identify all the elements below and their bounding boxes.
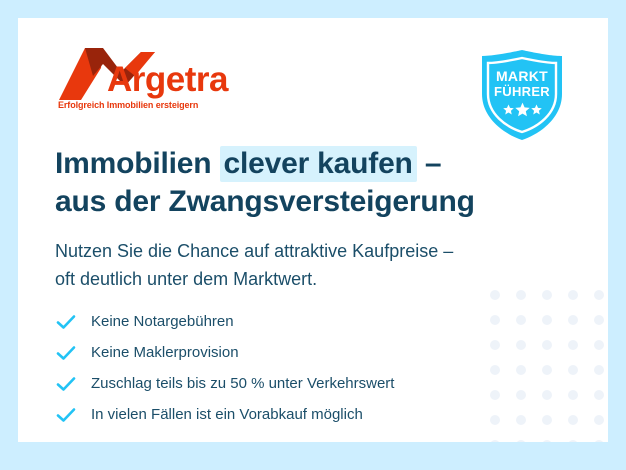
list-item-label: Keine Notargebühren [91, 312, 234, 332]
check-icon [55, 373, 77, 395]
headline-line-2: aus der Zwangsversteigerung [55, 185, 475, 218]
list-item-label: Keine Maklerprovision [91, 343, 239, 363]
dot [568, 340, 578, 350]
dot [542, 415, 552, 425]
dot [516, 415, 526, 425]
list-item: Keine Notargebühren [55, 306, 485, 337]
dot [490, 340, 500, 350]
dot [594, 340, 604, 350]
dot [516, 365, 526, 375]
dot [568, 290, 578, 300]
dot [594, 390, 604, 400]
dot [594, 440, 604, 443]
dot [594, 365, 604, 375]
check-icon [55, 342, 77, 364]
dot [542, 340, 552, 350]
shield-badge-icon [478, 48, 566, 142]
check-icon [55, 311, 77, 333]
dot [516, 390, 526, 400]
dot [516, 315, 526, 325]
dot [542, 290, 552, 300]
headline-highlight: clever kaufen [220, 146, 417, 182]
dot [542, 365, 552, 375]
argetra-logo[interactable]: Argetra Erfolgreich Immobilien ersteiger… [55, 46, 255, 124]
content-card: Argetra Erfolgreich Immobilien ersteiger… [18, 18, 608, 442]
dot [568, 390, 578, 400]
list-item: Zuschlag teils bis zu 50 % unter Verkehr… [55, 368, 485, 399]
list-item: In vielen Fällen ist ein Vorabkauf mögli… [55, 399, 485, 430]
dot [490, 415, 500, 425]
subheading: Nutzen Sie die Chance auf attraktive Kau… [55, 237, 525, 293]
dot [542, 315, 552, 325]
subheading-line-1: Nutzen Sie die Chance auf attraktive Kau… [55, 241, 453, 261]
dot [490, 440, 500, 443]
benefits-checklist: Keine Notargebühren Keine Maklerprovisio… [55, 306, 485, 430]
dot [594, 290, 604, 300]
dot [568, 315, 578, 325]
list-item-label: In vielen Fällen ist ein Vorabkauf mögli… [91, 405, 363, 425]
dot [490, 315, 500, 325]
dot [568, 415, 578, 425]
list-item: Keine Maklerprovision [55, 337, 485, 368]
dot [594, 315, 604, 325]
market-leader-badge: MARKT FÜHRER [478, 48, 566, 142]
page-title: Immobilien clever kaufen – aus der Zwang… [55, 145, 555, 221]
logo-wordmark: Argetra [107, 60, 228, 100]
dot [568, 365, 578, 375]
dot [516, 340, 526, 350]
dot [594, 415, 604, 425]
dot [490, 390, 500, 400]
headline-part-2: – [417, 147, 442, 180]
dot [542, 440, 552, 443]
dot [490, 365, 500, 375]
subheading-line-2: oft deutlich unter dem Marktwert. [55, 269, 317, 289]
header: Argetra Erfolgreich Immobilien ersteiger… [55, 36, 588, 126]
list-item-label: Zuschlag teils bis zu 50 % unter Verkehr… [91, 374, 394, 394]
dot [516, 440, 526, 443]
check-icon [55, 404, 77, 426]
advertisement-banner: Argetra Erfolgreich Immobilien ersteiger… [0, 0, 626, 470]
logo-tagline: Erfolgreich Immobilien ersteigern [58, 100, 198, 110]
dot-pattern-decoration [482, 282, 608, 442]
dot [542, 390, 552, 400]
dot [568, 440, 578, 443]
headline-part-1: Immobilien [55, 147, 220, 180]
